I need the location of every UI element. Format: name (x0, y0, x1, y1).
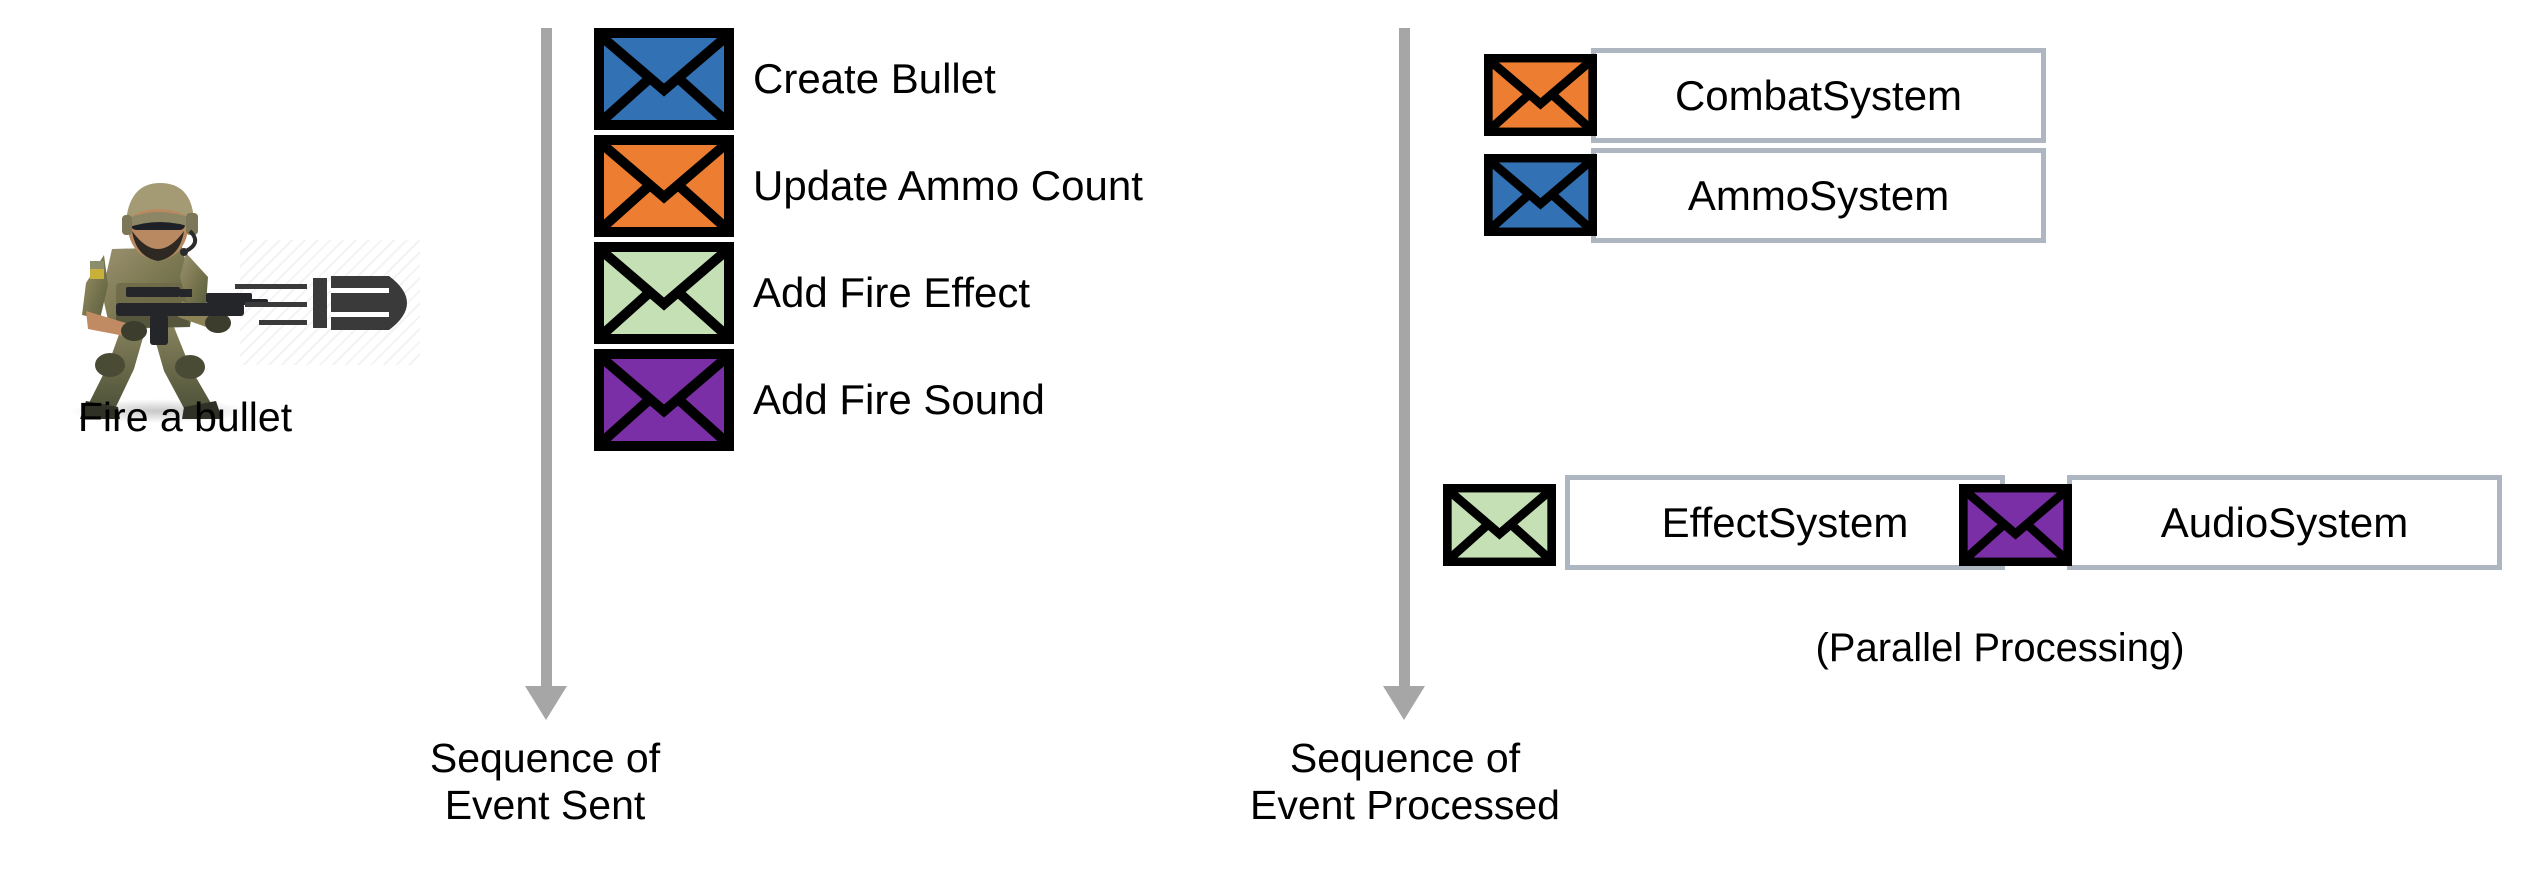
system-box[interactable]: EffectSystem (1565, 475, 2005, 570)
system-box[interactable]: CombatSystem (1591, 48, 2046, 143)
envelope-icon (1959, 484, 2072, 566)
event-row[interactable]: Create Bullet (594, 28, 996, 130)
sent-timeline-arrowhead (525, 686, 567, 720)
system-box[interactable]: AudioSystem (2067, 475, 2502, 570)
envelope-icon (594, 135, 734, 237)
system-label: AmmoSystem (1596, 175, 2041, 217)
event-label: Add Fire Sound (753, 379, 1045, 421)
envelope-icon (594, 28, 734, 130)
sent-timeline-line (541, 28, 552, 688)
event-label: Add Fire Effect (753, 272, 1030, 314)
parallel-processing-note: (Parallel Processing) (1640, 628, 2360, 668)
sent-caption-line1: Sequence of (400, 735, 690, 782)
system-box[interactable]: AmmoSystem (1591, 148, 2046, 243)
event-row[interactable]: Add Fire Effect (594, 242, 1030, 344)
sequence-of-event-processed-caption: Sequence of Event Processed (1180, 735, 1630, 829)
envelope-icon (1484, 154, 1597, 236)
envelope-icon (594, 349, 734, 451)
event-label: Update Ammo Count (753, 165, 1143, 207)
diagram-canvas: Fire a bullet Create Bullet Update Ammo … (0, 0, 2544, 882)
processed-timeline-line (1399, 28, 1410, 688)
processed-caption-line2: Event Processed (1180, 782, 1630, 829)
event-label: Create Bullet (753, 58, 996, 100)
fire-a-bullet-caption: Fire a bullet (10, 395, 360, 441)
bullet-icon (235, 258, 430, 353)
envelope-icon (1484, 54, 1597, 136)
system-label: AudioSystem (2072, 502, 2497, 544)
system-label: CombatSystem (1596, 75, 2041, 117)
sequence-of-event-sent-caption: Sequence of Event Sent (400, 735, 690, 829)
envelope-icon (594, 242, 734, 344)
processed-caption-line1: Sequence of (1180, 735, 1630, 782)
envelope-icon (1443, 484, 1556, 566)
system-label: EffectSystem (1570, 502, 2000, 544)
event-row[interactable]: Add Fire Sound (594, 349, 1045, 451)
sent-caption-line2: Event Sent (400, 782, 690, 829)
processed-timeline-arrowhead (1383, 686, 1425, 720)
event-row[interactable]: Update Ammo Count (594, 135, 1143, 237)
